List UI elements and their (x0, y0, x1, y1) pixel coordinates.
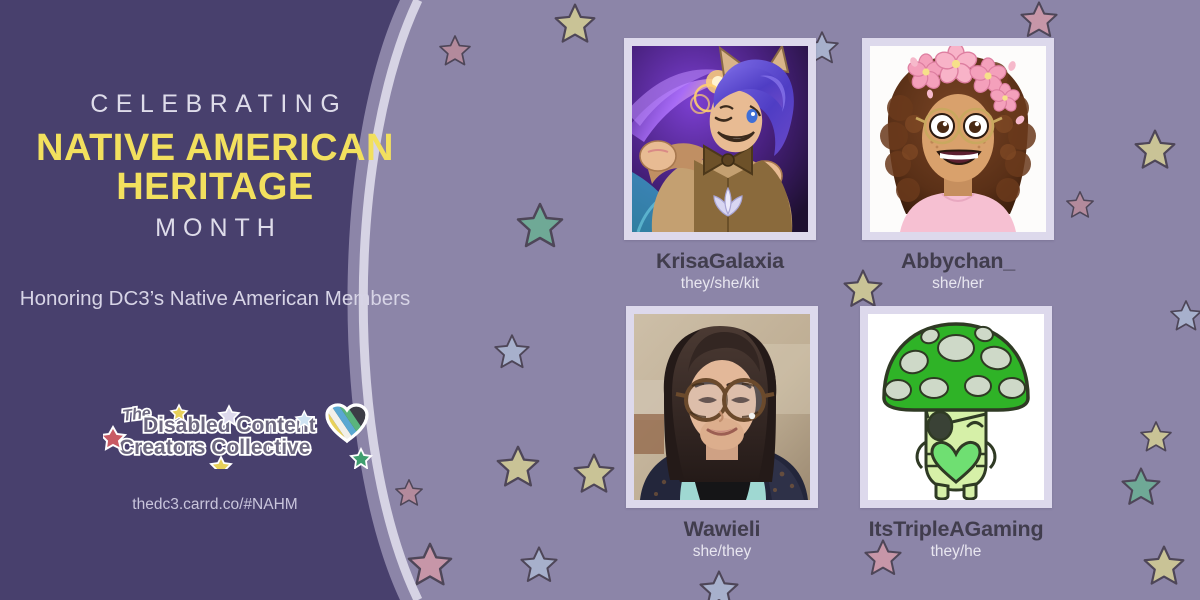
members-grid: KrisaGalaxia they/she/kit (600, 0, 1200, 600)
headline-line-1: NATIVE AMERICAN (36, 129, 394, 168)
member-pronouns: they/she/kit (620, 275, 820, 293)
decor-star (493, 333, 531, 371)
member-name: Wawieli (622, 517, 822, 542)
kicker-text: CELEBRATING (83, 92, 348, 117)
photo-frame (862, 38, 1054, 240)
member-card[interactable]: Wawieli she/they (622, 306, 822, 561)
decor-star (519, 545, 559, 585)
decor-star (515, 201, 565, 251)
decor-star (553, 2, 597, 46)
headline-line-2: HERITAGE (116, 168, 314, 207)
headline-subtitle: Honoring DC3’s Native American Members (20, 284, 410, 315)
avatar-wawieli (634, 314, 810, 500)
member-card[interactable]: Abbychan_ she/her (858, 38, 1058, 293)
member-pronouns: she/they (622, 543, 822, 561)
site-url[interactable]: thedc3.carrd.co/#NAHM (0, 496, 430, 514)
member-name: ItsTripleAGaming (856, 517, 1056, 542)
member-card[interactable]: KrisaGalaxia they/she/kit (620, 38, 820, 293)
photo-frame (624, 38, 816, 240)
member-name: KrisaGalaxia (620, 249, 820, 274)
member-name: Abbychan_ (858, 249, 1058, 274)
decor-star (495, 444, 541, 490)
avatar-abbychan (870, 46, 1046, 232)
photo-frame (860, 306, 1052, 508)
member-pronouns: she/her (858, 275, 1058, 293)
member-card[interactable]: ItsTripleAGaming they/he (856, 306, 1056, 561)
dc3-logo: The Disabled Content Creators Collective (103, 399, 383, 469)
poster-canvas: CELEBRATING NATIVE AMERICAN HERITAGE MON… (0, 0, 1200, 600)
member-pronouns: they/he (856, 543, 1056, 561)
headline-month: MONTH (148, 216, 282, 241)
photo-frame (626, 306, 818, 508)
avatar-krisagalaxia (632, 46, 808, 232)
svg-text:Creators Collective: Creators Collective (119, 436, 310, 459)
avatar-itstripleagaming (868, 314, 1044, 500)
